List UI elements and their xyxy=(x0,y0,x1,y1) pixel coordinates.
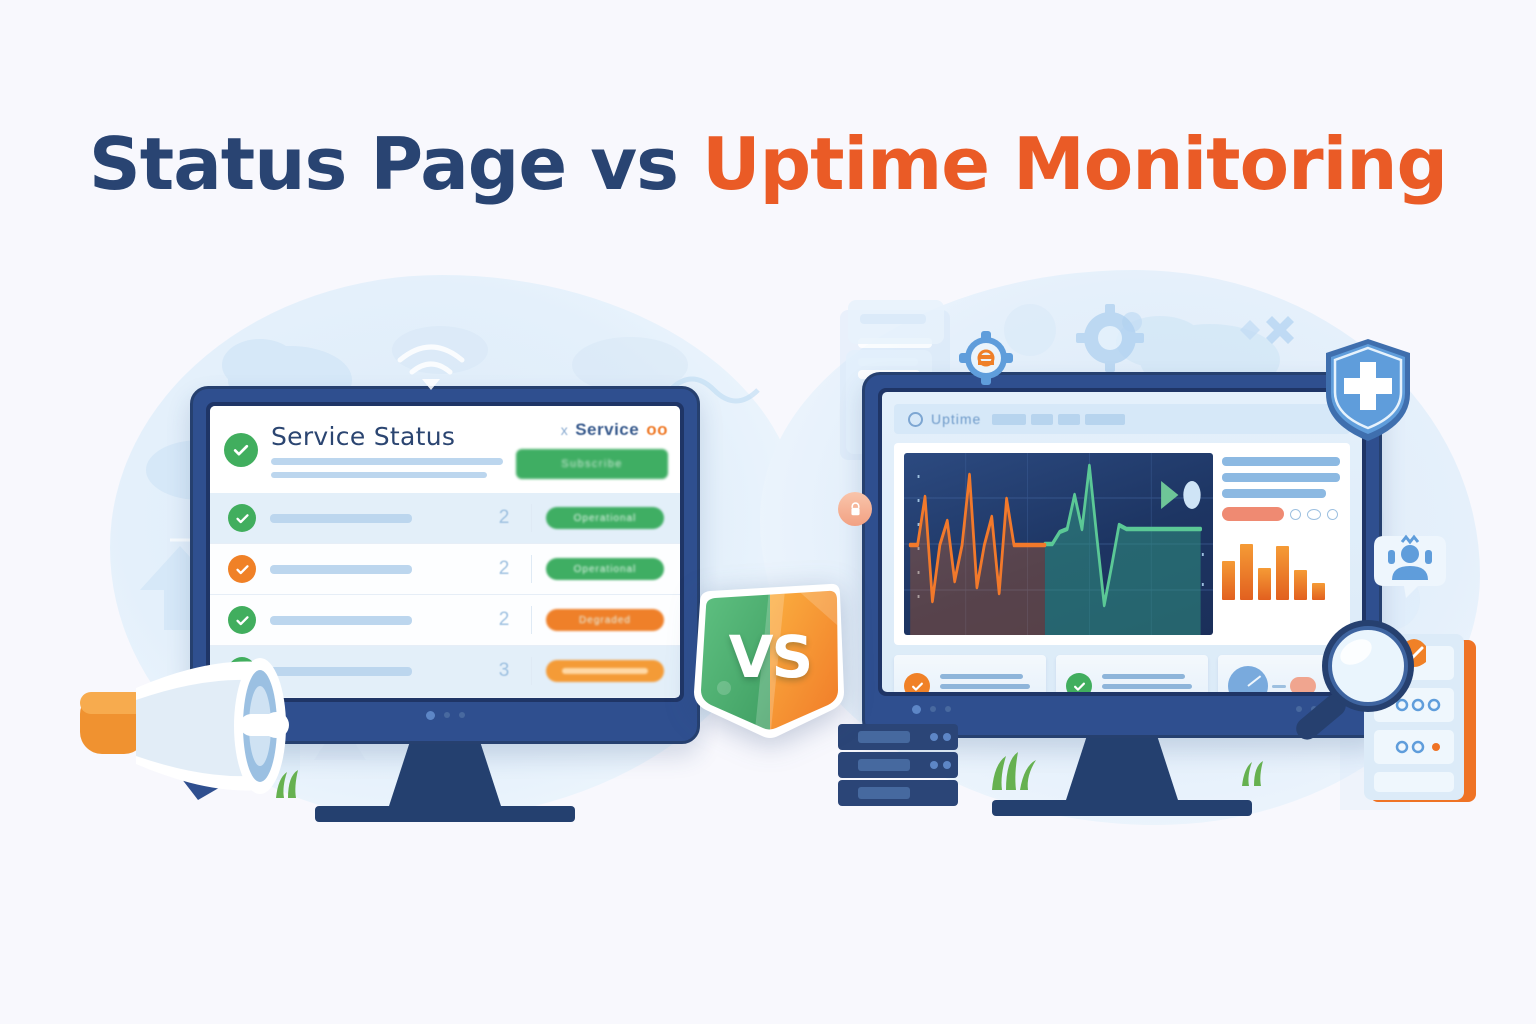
dashboard-tab[interactable] xyxy=(992,414,1026,425)
chart-bar xyxy=(1222,561,1235,600)
text-line xyxy=(940,684,1030,689)
dashboard-tabs xyxy=(992,414,1125,425)
illustration-stage: Status Page vs Uptime Monitoring xyxy=(0,0,1536,1024)
dashboard-tab[interactable] xyxy=(1058,414,1080,425)
status-badge-inner xyxy=(562,668,648,674)
gear-badge-icon xyxy=(958,330,1014,386)
alert-pill-row xyxy=(1222,507,1340,521)
circle-outline-icon xyxy=(1327,509,1338,520)
uptime-chart-svg xyxy=(904,453,1213,635)
check-circle-orange-icon xyxy=(904,673,930,692)
row-divider xyxy=(531,504,532,532)
speedometer-icon xyxy=(1228,666,1268,692)
dashboard-label: Uptime xyxy=(931,411,981,427)
check-circle-green-icon xyxy=(228,504,256,532)
megaphone-icon xyxy=(62,630,322,820)
chart-bar xyxy=(1312,583,1325,600)
chart-area-green xyxy=(1045,466,1201,635)
uptime-bar-chart xyxy=(1222,540,1340,600)
brand-name: Service xyxy=(575,420,639,440)
status-card-lines xyxy=(1102,674,1198,693)
page-title: Status Page vs Uptime Monitoring xyxy=(0,122,1536,206)
text-line xyxy=(1102,684,1192,689)
monitor-neck-right xyxy=(1066,738,1178,800)
circle-outline-icon xyxy=(1290,509,1301,520)
row-divider xyxy=(531,657,532,685)
brand-suffix: oo xyxy=(646,420,668,440)
status-card[interactable] xyxy=(1056,655,1208,692)
dashboard-status-cards xyxy=(894,655,1350,692)
grass-decor xyxy=(980,746,1054,790)
dashboard-tab[interactable] xyxy=(1031,414,1053,425)
chart-bar xyxy=(1276,546,1289,600)
server-stack-icon xyxy=(834,722,984,810)
support-agent-icon xyxy=(1372,532,1448,598)
service-row-number: 3 xyxy=(491,660,517,682)
service-status-row[interactable]: 2Operational xyxy=(210,493,680,544)
side-line xyxy=(1222,473,1340,482)
status-page-title: Service Status xyxy=(271,422,503,451)
led-dot xyxy=(444,712,450,718)
check-circle-green-icon xyxy=(1066,673,1092,692)
play-triangle-marker xyxy=(1161,481,1178,509)
dashboard-body xyxy=(894,443,1350,645)
subscribe-button[interactable]: Subscribe xyxy=(516,449,668,479)
row-divider xyxy=(531,606,532,634)
vs-badge-label: VS xyxy=(686,580,854,740)
page-title-right: Uptime Monitoring xyxy=(702,122,1447,206)
dot-marker xyxy=(1183,481,1200,509)
alert-pill xyxy=(1222,507,1284,521)
status-badge: Operational xyxy=(546,558,664,580)
service-name-placeholder xyxy=(270,616,477,625)
led-dot xyxy=(930,706,936,712)
row-divider xyxy=(531,555,532,583)
check-circle-green-icon xyxy=(224,433,258,467)
lock-chip-icon xyxy=(838,492,872,526)
side-line xyxy=(1222,489,1326,498)
service-status-row[interactable]: 2Operational xyxy=(210,544,680,595)
led-dot xyxy=(945,706,951,712)
magnifier-icon xyxy=(1288,612,1420,752)
chart-bar xyxy=(1258,568,1271,600)
wifi-icon xyxy=(392,338,470,394)
placeholder-bar xyxy=(270,616,412,625)
status-page-header: Service Status x Serviceoo Subscribe xyxy=(210,406,680,493)
service-row-number: 2 xyxy=(491,558,517,580)
status-badge: Operational xyxy=(546,507,664,529)
service-name-placeholder xyxy=(270,514,477,523)
service-row-number: 2 xyxy=(491,507,517,529)
monitor-base-left xyxy=(315,806,575,822)
chart-bar xyxy=(1240,544,1253,600)
circle-outline-icon xyxy=(1307,509,1321,520)
placeholder-bar xyxy=(270,514,412,523)
brand-x-mark: x xyxy=(561,422,569,438)
led-dot xyxy=(459,712,465,718)
dashboard-topbar: Uptime xyxy=(894,404,1350,434)
status-page-brand: x Serviceoo xyxy=(561,420,668,440)
status-card[interactable] xyxy=(894,655,1046,692)
power-indicator xyxy=(426,711,435,720)
service-name-placeholder xyxy=(270,565,477,574)
placeholder-bar xyxy=(270,565,412,574)
status-card-lines xyxy=(940,674,1036,693)
shield-cross-icon xyxy=(1322,336,1414,444)
status-badge xyxy=(546,660,664,682)
check-circle-orange-icon xyxy=(228,555,256,583)
side-line xyxy=(1222,457,1340,466)
monitor-base-right xyxy=(992,800,1252,816)
vs-badge: VS xyxy=(686,580,854,740)
dashboard-side-panel xyxy=(1222,453,1340,635)
placeholder-bar xyxy=(271,472,487,478)
ghost-line-a xyxy=(860,314,926,324)
page-title-left: Status Page vs xyxy=(89,122,678,206)
service-row-number: 2 xyxy=(491,609,517,631)
text-line xyxy=(940,674,1023,679)
circle-outline-icon xyxy=(908,412,923,427)
text-line xyxy=(1102,674,1185,679)
grass-decor xyxy=(1236,754,1280,786)
status-badge: Degraded xyxy=(546,609,664,631)
monitor-neck-left xyxy=(389,744,501,806)
power-indicator xyxy=(912,705,921,714)
dashboard-tab[interactable] xyxy=(1085,414,1125,425)
chart-bar xyxy=(1294,570,1307,600)
uptime-chart xyxy=(904,453,1213,635)
placeholder-bar xyxy=(271,458,503,465)
